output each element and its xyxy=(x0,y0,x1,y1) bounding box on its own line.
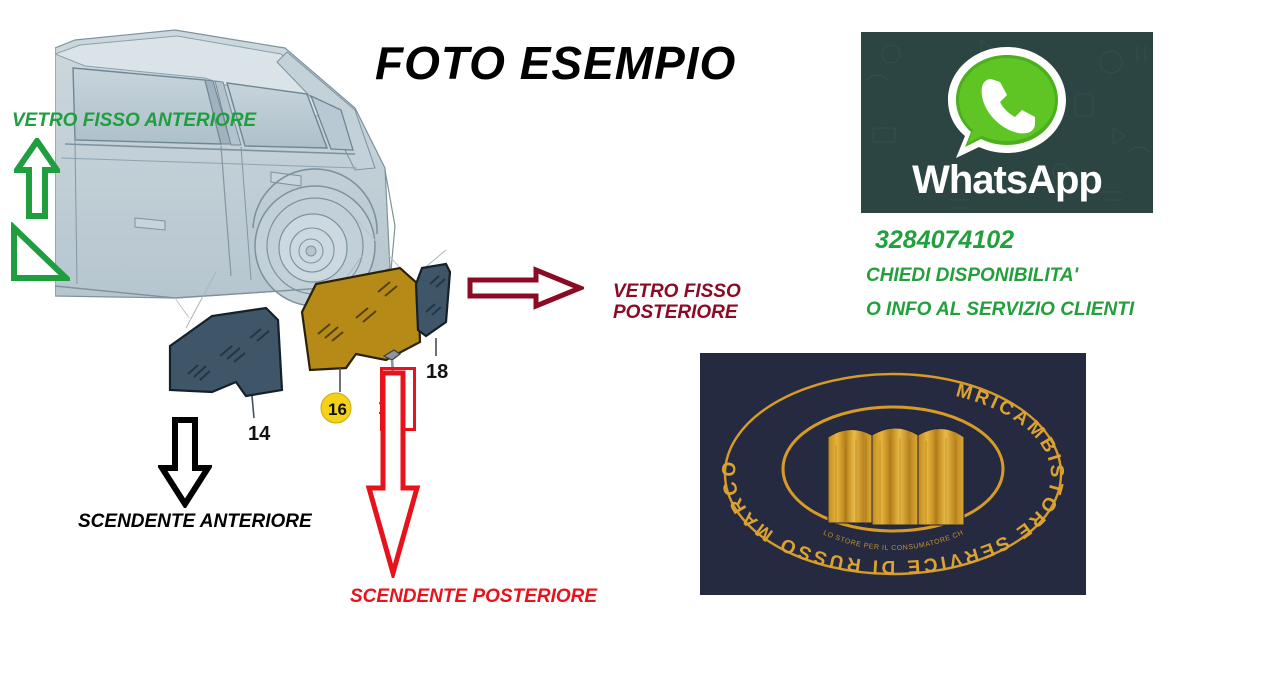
label-scendente-anteriore: SCENDENTE ANTERIORE xyxy=(78,511,312,532)
whatsapp-banner[interactable]: WhatsApp xyxy=(861,32,1153,213)
whatsapp-icon xyxy=(943,42,1071,169)
page-title: FOTO ESEMPIO xyxy=(375,36,736,90)
whatsapp-cta-line1: CHIEDI DISPONIBILITA' xyxy=(866,265,1078,287)
right-arrow-icon-darkred xyxy=(466,266,584,315)
whatsapp-cta-line2: O INFO AL SERVIZIO CLIENTI xyxy=(866,299,1134,321)
label-vfp-line2: POSTERIORE xyxy=(613,302,741,323)
triangle-icon-green xyxy=(8,222,70,289)
label-scendente-posteriore: SCENDENTE POSTERIORE xyxy=(350,586,597,607)
label-vfp-line1: VETRO FISSO xyxy=(613,281,741,302)
brand-logo-panel: MRICAMBISTORE SERVICE DI RUSSO MARCO LO … xyxy=(700,353,1086,595)
svg-text:16: 16 xyxy=(328,400,347,419)
whatsapp-wordmark: WhatsApp xyxy=(861,158,1153,203)
label-vetro-fisso-anteriore: VETRO FISSO ANTERIORE xyxy=(12,110,256,131)
svg-text:18: 18 xyxy=(426,361,448,383)
label-vetro-fisso-posteriore: VETRO FISSO POSTERIORE xyxy=(613,281,741,324)
up-arrow-icon-green xyxy=(14,138,60,225)
down-arrow-icon-red xyxy=(365,370,421,583)
down-arrow-icon-black xyxy=(158,416,212,513)
svg-text:14: 14 xyxy=(248,423,271,445)
whatsapp-phone-number[interactable]: 3284074102 xyxy=(875,226,1014,255)
